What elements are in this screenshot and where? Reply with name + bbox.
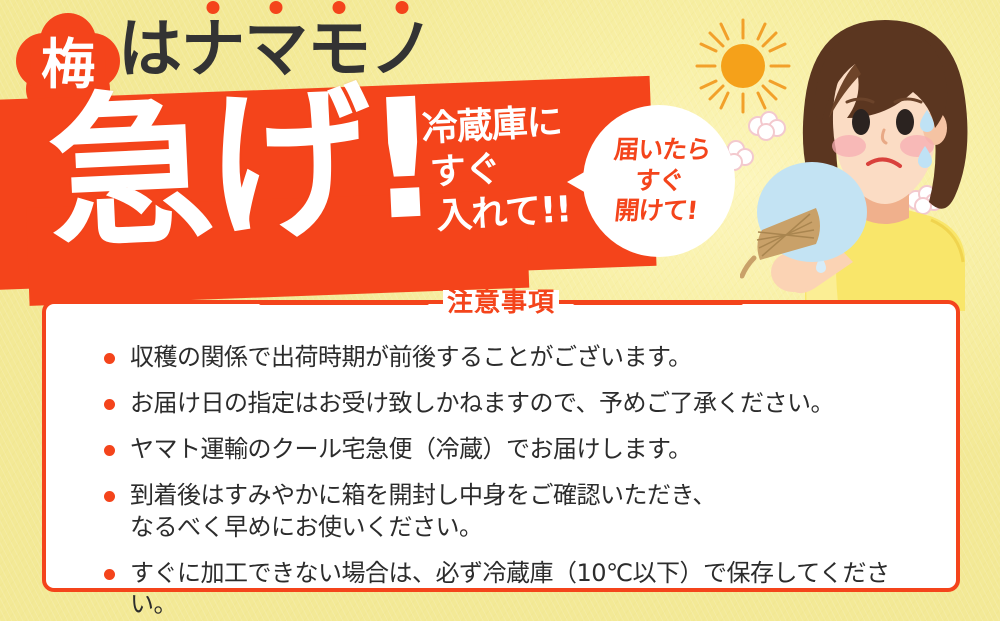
speech-bubble-text: 届いたら すぐ 開けて! <box>575 105 743 257</box>
bullet-icon <box>104 353 115 364</box>
list-item: お届け日の指定はお受け致しかねますので、予めご了承ください。 <box>100 388 932 420</box>
note-line-1: お届け日の指定はお受け致しかねますので、予めご了承ください。 <box>130 389 834 417</box>
bubble-line-2: すぐ <box>633 166 684 197</box>
banner-sub-line-1: 冷蔵庫に <box>421 100 568 151</box>
uchiwa-fan-icon <box>740 160 870 310</box>
speech-bubble: 届いたら すぐ 開けて! <box>583 105 735 257</box>
notice-card-title: 注意事項 <box>443 290 559 316</box>
poster-canvas: 急げ! 冷蔵庫に すぐ 入れて!! 届いたら すぐ 開けて! 梅 は ナ マ モ… <box>0 0 1000 621</box>
list-item: 収穫の関係で出荷時期が前後することがございます。 <box>100 342 932 374</box>
headline-isoge: 急げ! <box>45 83 439 252</box>
notice-card: 注意事項 収穫の関係で出荷時期が前後することがございます。 お届け日の指定はお受… <box>42 300 960 592</box>
note-line-1: ヤマト運輸のクール宅急便（冷蔵）でお届けします。 <box>130 435 692 463</box>
list-item: 到着後はすみやかに箱を開封し中身をご確認いただき、 なるべく早めにお使いください… <box>100 480 932 544</box>
note-line-1: 収穫の関係で出荷時期が前後することがございます。 <box>130 343 692 371</box>
note-line-1: 到着後はすみやかに箱を開封し中身をご確認いただき、 <box>130 481 716 509</box>
banner-sub-line-3: 入れて!! <box>435 188 572 239</box>
header-rule-right <box>573 301 743 305</box>
bullet-icon <box>104 569 115 580</box>
header-rule-left <box>259 301 429 305</box>
bullet-icon <box>104 491 115 502</box>
notice-list: 収穫の関係で出荷時期が前後することがございます。 お届け日の指定はお受け致しかね… <box>100 342 932 621</box>
banner-sub-line-2: すぐ <box>429 144 570 195</box>
note-line-2: なるべく早めにお使いください。 <box>130 512 932 544</box>
bullet-icon <box>104 445 115 456</box>
bubble-line-1: 届いたら <box>613 135 712 166</box>
title-char-0: は <box>118 18 181 82</box>
notice-card-header: 注意事項 <box>46 290 956 316</box>
bullet-icon <box>104 399 115 410</box>
note-line-1: すぐに加工できない場合は、必ず冷蔵庫（10℃以下）で保存してください。 <box>130 559 890 619</box>
list-item: すぐに加工できない場合は、必ず冷蔵庫（10℃以下）で保存してください。 <box>100 558 932 621</box>
banner-sub-text: 冷蔵庫に すぐ 入れて!! <box>421 100 572 239</box>
bubble-line-3: 開けて! <box>613 196 699 227</box>
list-item: ヤマト運輸のクール宅急便（冷蔵）でお届けします。 <box>100 434 932 466</box>
